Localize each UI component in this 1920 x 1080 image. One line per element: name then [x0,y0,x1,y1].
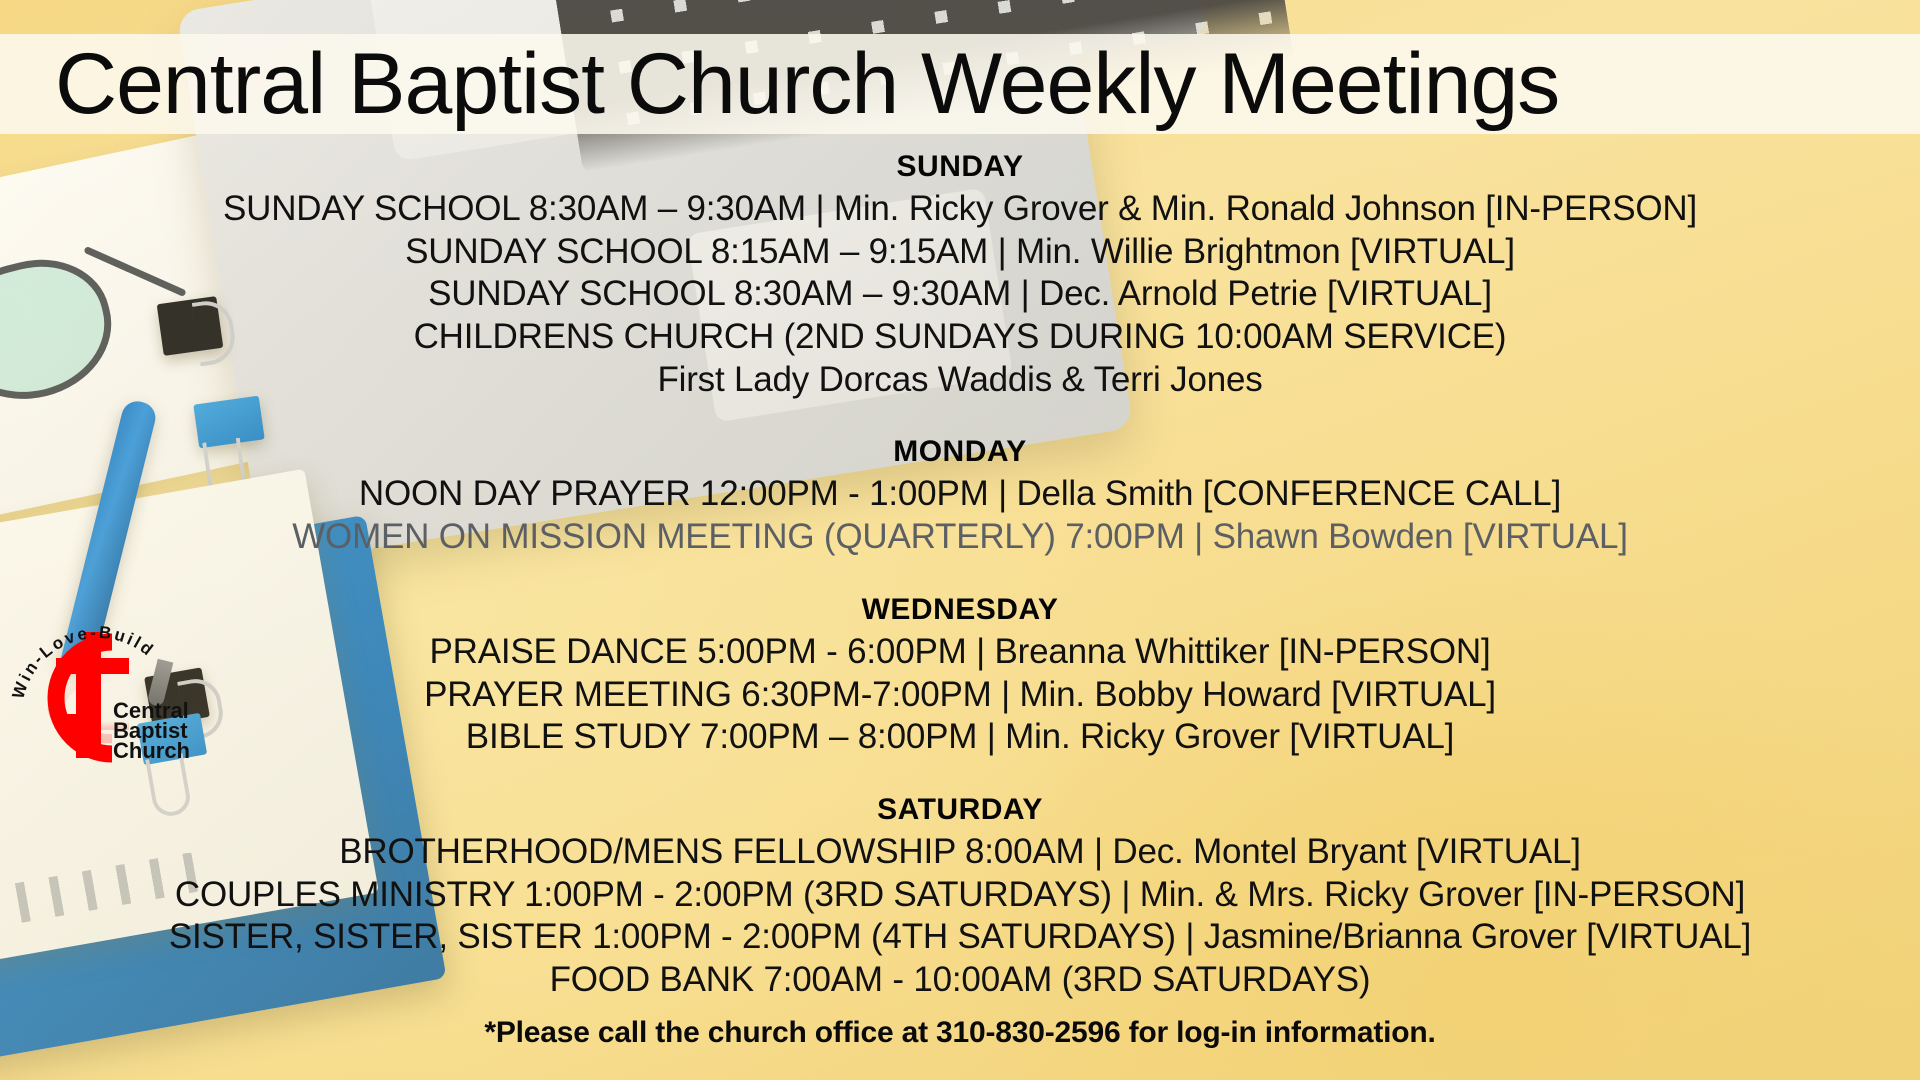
call-office-footnote: *Please call the church office at 310-83… [0,1016,1920,1050]
day-heading: WEDNESDAY [0,593,1920,627]
event-line: SUNDAY SCHOOL 8:30AM – 9:30AM | Min. Ric… [0,188,1920,231]
event-line: BROTHERHOOD/MENS FELLOWSHIP 8:00AM | Dec… [0,831,1920,874]
day-block-wednesday: WEDNESDAYPRAISE DANCE 5:00PM - 6:00PM | … [0,593,1920,759]
event-line: FOOD BANK 7:00AM - 10:00AM (3RD SATURDAY… [0,959,1920,1002]
header-banner: Central Baptist Church Weekly Meetings [0,34,1920,134]
event-line: CHILDRENS CHURCH (2ND SUNDAYS DURING 10:… [0,316,1920,359]
day-heading: SATURDAY [0,793,1920,827]
day-heading: SUNDAY [0,150,1920,184]
event-line: COUPLES MINISTRY 1:00PM - 2:00PM (3RD SA… [0,874,1920,917]
weekly-meetings-flyer: Win-Love-Build Central Baptist Church Ce… [0,0,1920,1080]
weekly-schedule: SUNDAYSUNDAY SCHOOL 8:30AM – 9:30AM | Mi… [0,150,1920,1036]
day-block-saturday: SATURDAYBROTHERHOOD/MENS FELLOWSHIP 8:00… [0,793,1920,1002]
page-title: Central Baptist Church Weekly Meetings [0,41,1559,127]
event-line: NOON DAY PRAYER 12:00PM - 1:00PM | Della… [0,473,1920,516]
day-block-monday: MONDAYNOON DAY PRAYER 12:00PM - 1:00PM |… [0,435,1920,558]
event-line: PRAYER MEETING 6:30PM-7:00PM | Min. Bobb… [0,674,1920,717]
day-heading: MONDAY [0,435,1920,469]
event-line: First Lady Dorcas Waddis & Terri Jones [0,359,1920,402]
event-line: SUNDAY SCHOOL 8:15AM – 9:15AM | Min. Wil… [0,231,1920,274]
event-line: WOMEN ON MISSION MEETING (QUARTERLY) 7:0… [0,516,1920,559]
event-line: PRAISE DANCE 5:00PM - 6:00PM | Breanna W… [0,631,1920,674]
event-line: SUNDAY SCHOOL 8:30AM – 9:30AM | Dec. Arn… [0,273,1920,316]
event-line: BIBLE STUDY 7:00PM – 8:00PM | Min. Ricky… [0,716,1920,759]
event-line: SISTER, SISTER, SISTER 1:00PM - 2:00PM (… [0,916,1920,959]
day-block-sunday: SUNDAYSUNDAY SCHOOL 8:30AM – 9:30AM | Mi… [0,150,1920,401]
